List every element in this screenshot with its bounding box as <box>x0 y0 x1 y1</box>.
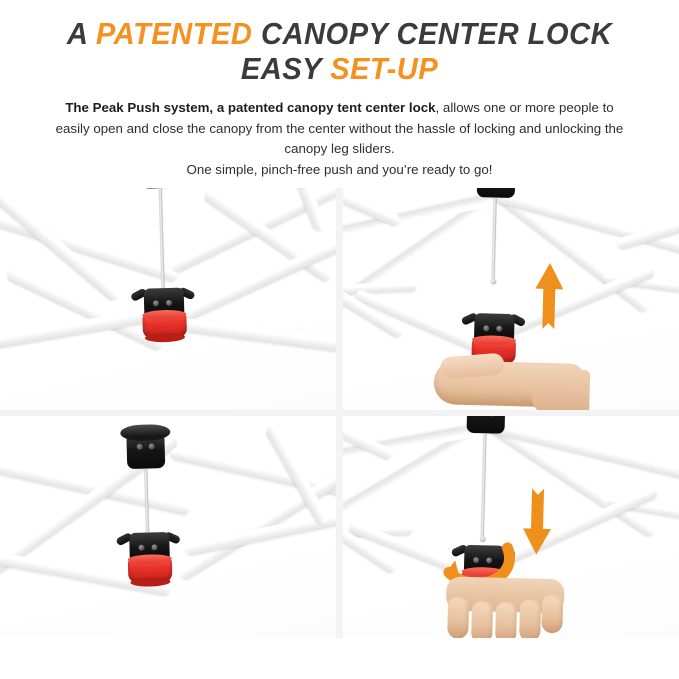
arrow-up-icon <box>533 262 565 337</box>
finger-shape <box>495 601 517 638</box>
slider-rod <box>492 197 497 281</box>
lock-bolt-icon <box>483 325 489 331</box>
center-lock <box>118 531 181 585</box>
body-lead: The Peak Push system, a patented canopy … <box>65 100 435 115</box>
lock-bolt-icon <box>496 325 502 331</box>
lock-bolt-icon <box>166 300 172 306</box>
headline-accent-patented: PATENTED <box>96 16 252 51</box>
canopy-frame-diagram <box>343 416 679 638</box>
wrist-shape <box>531 368 590 410</box>
peak-hub-icon <box>467 416 506 434</box>
frame-tube <box>483 419 679 481</box>
body-paragraph: The Peak Push system, a patented canopy … <box>22 98 657 180</box>
product-photo-plate <box>0 188 336 410</box>
photo-grid <box>0 188 679 638</box>
header: A PATENTED CANOPY CENTER LOCK EASY SET-U… <box>0 0 679 180</box>
peak-hub-icon <box>126 434 165 469</box>
center-lock <box>133 287 196 341</box>
frame-tube <box>493 190 679 258</box>
headline-text-c: EASY <box>241 51 330 86</box>
headline-text-b: CANOPY CENTER LOCK <box>252 16 612 51</box>
panel-top-left <box>0 188 336 410</box>
lock-red-collar-icon <box>128 558 173 583</box>
slider-rod <box>481 433 487 539</box>
finger-shape <box>471 601 493 638</box>
finger-shape <box>447 596 469 638</box>
lock-bolt-icon <box>139 544 145 550</box>
page-title: A PATENTED CANOPY CENTER LOCK EASY SET-U… <box>41 18 638 85</box>
panel-bottom-left <box>0 416 336 638</box>
headline-line2: EASY SET-UP <box>41 53 638 85</box>
peak-hub-icon <box>477 188 516 198</box>
finger-shape <box>541 595 563 634</box>
canopy-frame-diagram <box>0 416 336 638</box>
panel-top-right <box>343 188 679 410</box>
lock-bolt-icon <box>153 300 159 306</box>
headline-line1: A PATENTED CANOPY CENTER LOCK <box>67 16 612 51</box>
open-palm-hand <box>433 350 585 410</box>
canopy-frame-diagram <box>0 188 336 410</box>
finger-shape <box>519 599 541 638</box>
headline-accent-setup: SET-UP <box>330 51 438 86</box>
product-photo-plate <box>343 188 679 410</box>
lock-bolt-icon <box>152 544 158 550</box>
arrow-down-icon <box>521 480 553 555</box>
lock-red-collar-icon <box>142 313 187 338</box>
hub-bolt-icon <box>137 443 143 449</box>
body-closing: One simple, pinch-free push and you’re r… <box>186 162 492 177</box>
canopy-frame-diagram <box>343 188 679 410</box>
panel-bottom-right <box>343 416 679 638</box>
hub-bolt-icon <box>149 443 155 449</box>
two-hand-grip <box>439 570 571 638</box>
product-photo-plate <box>0 416 336 638</box>
product-photo-plate <box>343 416 679 638</box>
infographic-page: A PATENTED CANOPY CENTER LOCK EASY SET-U… <box>0 0 679 679</box>
headline-text-a: A <box>67 16 96 51</box>
